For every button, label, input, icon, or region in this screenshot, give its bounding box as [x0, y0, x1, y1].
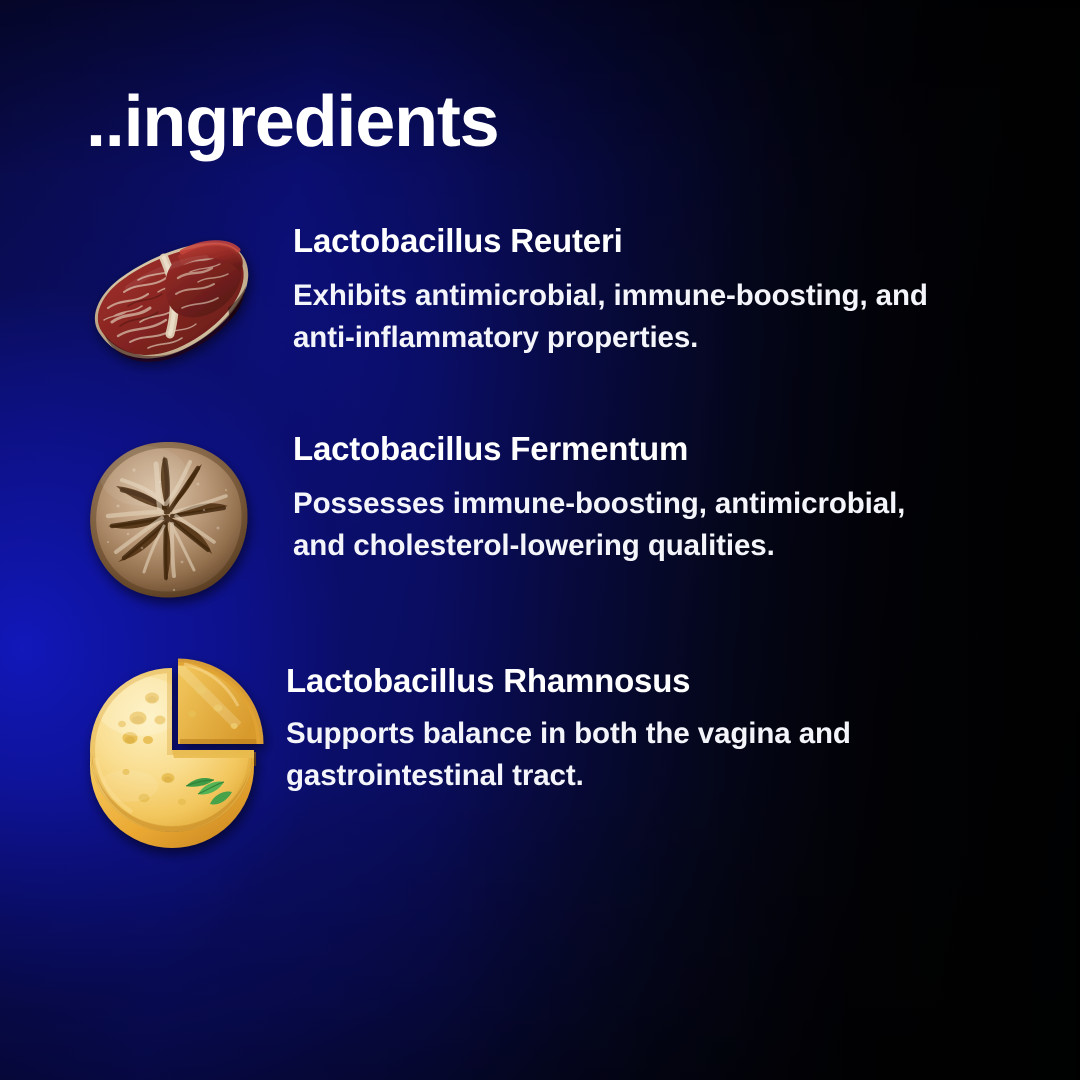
- ingredient-description: Supports balance in both the vagina and …: [286, 713, 976, 797]
- sourdough-bread-image: [78, 430, 258, 600]
- ingredient-name: Lactobacillus Rhamnosus: [286, 662, 1046, 701]
- ingredient-copy: Lactobacillus Reuteri Exhibits antimicro…: [293, 222, 1053, 359]
- ingredient-copy: Lactobacillus Fermentum Possesses immune…: [293, 430, 1053, 567]
- ingredient-description: Exhibits antimicrobial, immune-boosting,…: [293, 275, 993, 359]
- ingredient-description: Possesses immune-boosting, antimicrobial…: [293, 483, 958, 567]
- cheese-wheel-image: [82, 662, 262, 832]
- ingredient-name: Lactobacillus Fermentum: [293, 430, 1053, 469]
- poster-content: ..ingredients: [0, 0, 1080, 1080]
- ingredient-name: Lactobacillus Reuteri: [293, 222, 1053, 261]
- raw-steak-image: [78, 222, 258, 392]
- ingredient-copy: Lactobacillus Rhamnosus Supports balance…: [286, 662, 1046, 797]
- ingredients-poster: ..ingredients: [0, 0, 1080, 1080]
- page-title: ..ingredients: [86, 86, 498, 158]
